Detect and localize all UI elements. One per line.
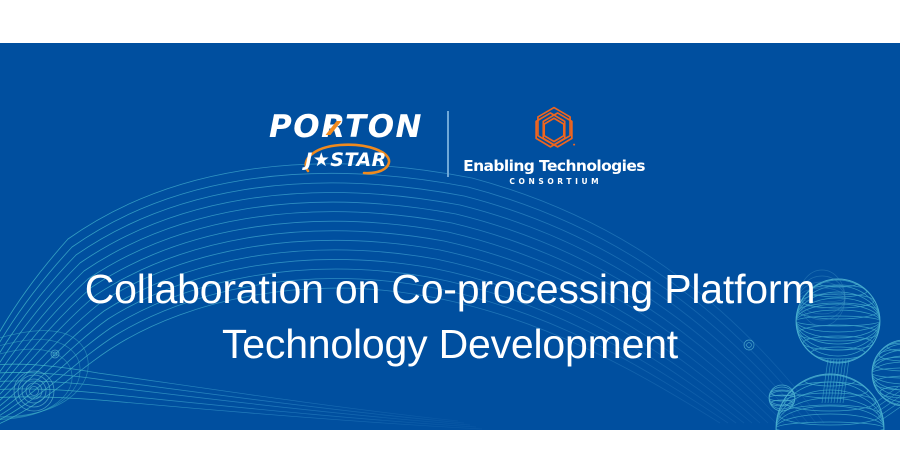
interlocking-hexagons-icon [524, 104, 584, 154]
banner-root: PORTON J★STAR [0, 0, 900, 471]
porton-wordmark: PORTON [269, 112, 423, 143]
logo-row: PORTON J★STAR [0, 98, 900, 190]
etc-title: Enabling Technologies [463, 159, 645, 175]
page-title: Collaboration on Co-processing Platform … [0, 262, 900, 370]
banner-stage: PORTON J★STAR [0, 43, 900, 430]
jstar-lockup: J★STAR [290, 147, 402, 177]
headline-line-2: Technology Development [0, 317, 900, 371]
logo-divider [447, 111, 449, 177]
jstar-wordmark: J★STAR [290, 151, 402, 170]
enabling-technologies-consortium-logo: Enabling Technologies CONSORTIUM [479, 103, 629, 185]
etc-subtitle: CONSORTIUM [506, 178, 602, 186]
porton-jstar-logo: PORTON J★STAR [271, 104, 421, 184]
headline-line-1: Collaboration on Co-processing Platform [0, 262, 900, 316]
